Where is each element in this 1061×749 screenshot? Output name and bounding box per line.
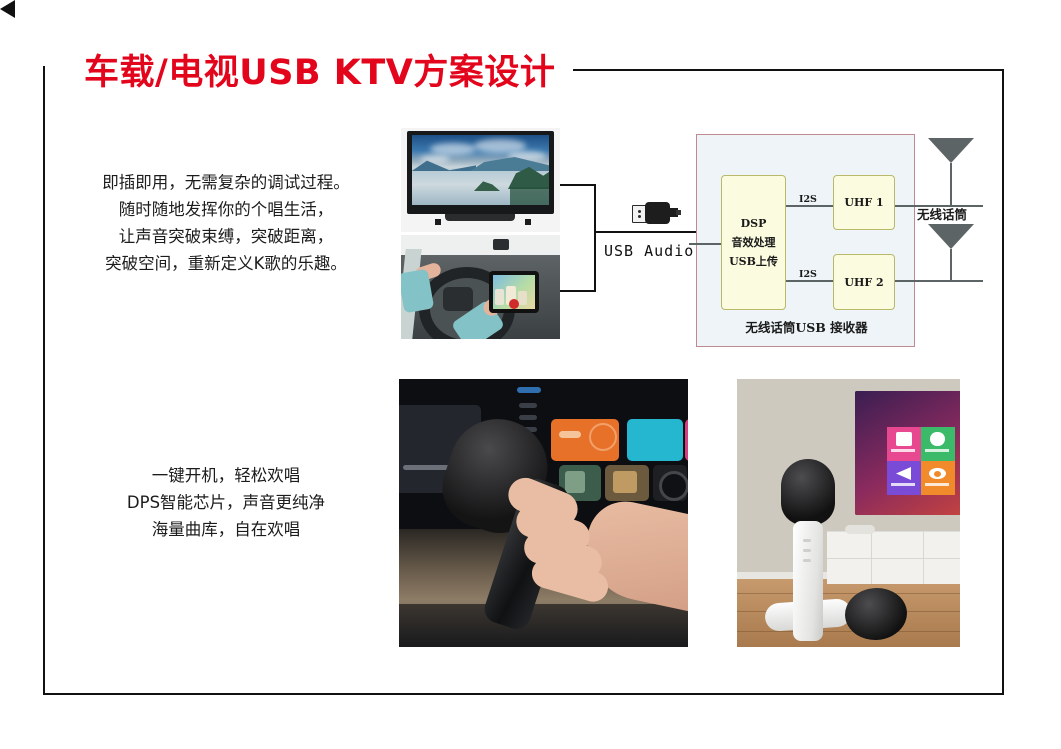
usb-audio-label: USB Audio (604, 242, 694, 260)
usb-dongle-icon (632, 202, 680, 224)
copy-top-line-3: 让声音突破束缚，突破距离， (66, 223, 386, 250)
slide-canvas: 车载/电视USB KTV方案设计 即插即用，无需复杂的调试过程。 随时随地发挥你… (0, 0, 1061, 749)
tv-screen (412, 135, 549, 205)
block-uhf-1-label: UHF 1 (844, 193, 883, 212)
car-windshield (401, 235, 560, 257)
car-screen-content (493, 275, 535, 309)
media-cabinet (827, 531, 960, 584)
block-uhf-2-label: UHF 2 (844, 273, 883, 292)
antenna-stem-2 (950, 249, 952, 282)
copy-bottom-line-1: 一键开机，轻松欢唱 (66, 462, 386, 489)
usb-shell (645, 202, 670, 224)
car-dashboard-photo (401, 235, 560, 339)
car-dash-lower (399, 604, 688, 647)
tv-foot-right (525, 219, 531, 225)
usb-audio-arrowhead (0, 0, 15, 18)
frame-top-rule (573, 69, 1004, 71)
wall-tv (855, 391, 960, 515)
diagram-caption: 无线话筒USB 接收器 (697, 317, 916, 336)
car-dashcam (493, 239, 509, 250)
antenna-icon-2 (928, 224, 974, 282)
page-title: 车载/电视USB KTV方案设计 (84, 44, 555, 95)
copy-bottom-line-3: 海量曲库，自在欢唱 (66, 516, 386, 543)
copy-top-line-4: 突破空间，重新定义K歌的乐趣。 (66, 250, 386, 277)
copy-top-line-1: 即插即用，无需复杂的调试过程。 (66, 169, 386, 196)
microphones-living-room-photo (737, 379, 960, 647)
block-dsp: DSP 音效处理 USB上传 (721, 175, 786, 310)
copy-bottom-line-2: DPS智能芯片，声音更纯净 (66, 489, 386, 516)
feature-copy-bottom: 一键开机，轻松欢唱 DPS智能芯片，声音更纯净 海量曲库，自在欢唱 (66, 462, 386, 543)
wire-i2s-2 (786, 280, 833, 282)
car-infotainment-screen (489, 271, 539, 313)
feature-copy-top: 即插即用，无需复杂的调试过程。 随时随地发挥你的个唱生活， 让声音突破束缚，突破… (66, 169, 386, 277)
frame-right-edge (1002, 70, 1004, 695)
antenna-icon-1 (928, 138, 974, 206)
antenna-stem-1 (950, 163, 952, 206)
connector-line-car (560, 290, 596, 292)
wire-i2s-1 (786, 205, 833, 207)
block-dsp-line-1: DSP (741, 214, 767, 233)
block-uhf-1: UHF 1 (833, 175, 895, 230)
block-uhf-2: UHF 2 (833, 254, 895, 310)
connector-line-tv (560, 184, 596, 186)
block-dsp-line-2: 音效处理 (732, 233, 776, 252)
bus-label-i2s-1: I2S (797, 194, 819, 205)
usb-receiver-block-diagram: DSP 音效处理 USB上传 UHF 1 UHF 2 I2S I2S 无线话筒U… (696, 134, 915, 347)
microphone-in-car-photo (399, 379, 688, 647)
antenna-triangle-2 (928, 224, 974, 249)
tv-bezel (407, 131, 554, 214)
tv-foot-left (435, 219, 441, 225)
microphone-standing-body (793, 521, 823, 641)
bus-label-i2s-2: I2S (797, 269, 819, 280)
microphone-standing-foam (781, 459, 835, 525)
flatscreen-tv-photo (401, 128, 560, 232)
tv-stand (445, 214, 515, 221)
copy-top-line-2: 随时随地发挥你的个唱生活， (66, 196, 386, 223)
antenna-label: 无线话筒 (917, 204, 967, 223)
block-dsp-line-3: USB上传 (729, 252, 778, 271)
frame-left-edge (43, 66, 45, 695)
usb-tip-end (676, 210, 681, 215)
usb-audio-arrow-line (596, 231, 700, 233)
antenna-triangle-1 (928, 138, 974, 163)
wire-usb-input (689, 243, 721, 245)
frame-bottom-edge (43, 693, 1004, 695)
connector-bus-vertical (594, 184, 596, 292)
steering-wheel-hub (443, 287, 473, 311)
